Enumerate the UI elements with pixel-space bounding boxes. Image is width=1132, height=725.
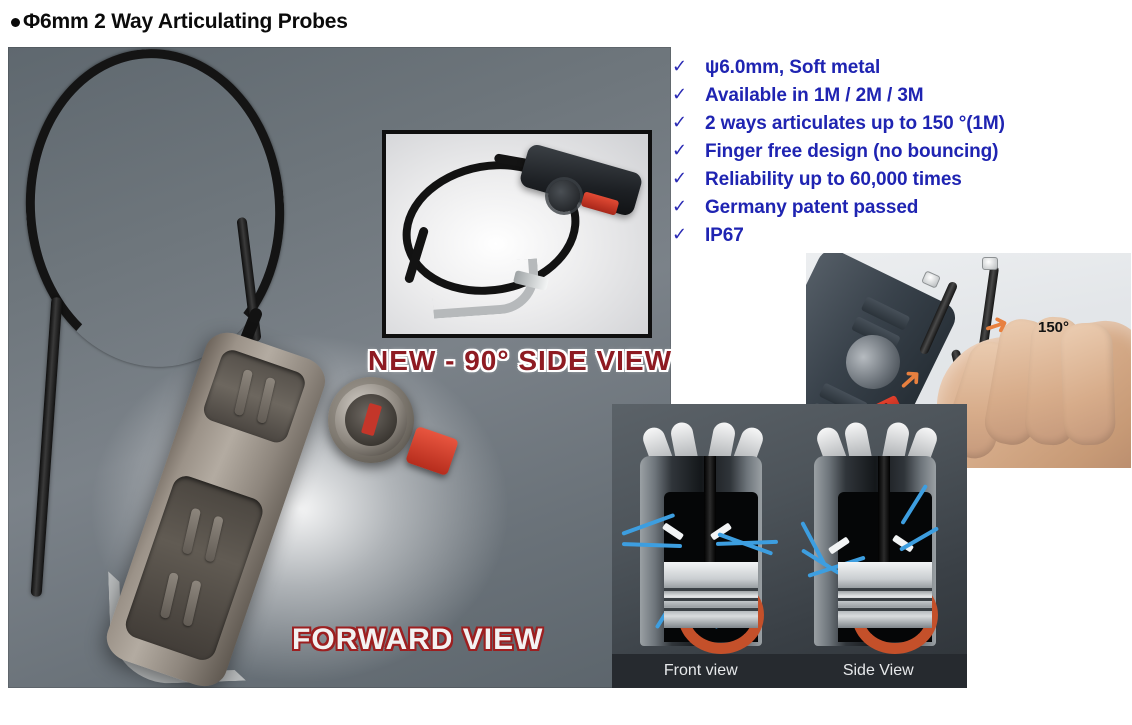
diagram-caption-side: Side View [790,654,968,688]
knob-red-marker [361,403,382,436]
feature-item: ✓ Finger free design (no bouncing) [668,138,1128,166]
main-product-photo: NEW - 90° SIDE VIEW FORWARD VIEW [8,47,671,688]
handle-ridge [160,572,179,619]
piston-ring [838,608,932,611]
cylinder-side-view [804,426,946,651]
inset-articulation-knob [548,180,580,212]
feature-list: ✓ ψ6.0mm, Soft metal ✓ Available in 1M /… [668,54,1128,250]
feature-label: ψ6.0mm, Soft metal [705,54,880,81]
check-icon: ✓ [668,82,705,108]
page-title: Φ6mm 2 Way Articulating Probes [23,10,348,34]
piston-ring [664,588,758,591]
piston-ring [664,598,758,601]
piston-ring [664,608,758,611]
finger [1060,322,1116,446]
piston-ring [838,588,932,591]
cylinder-wall [814,456,936,646]
diagram-caption-front: Front view [612,654,790,688]
feature-item: ✓ ψ6.0mm, Soft metal [668,54,1128,82]
feature-label: Finger free design (no bouncing) [705,138,998,165]
feature-item: ✓ IP67 [668,222,1128,250]
feature-item: ✓ Reliability up to 60,000 times [668,166,1128,194]
light-beam [622,542,682,548]
handle-ridge [257,377,276,424]
feature-item: ✓ Germany patent passed [668,194,1128,222]
technical-diagram-panel: Front view Side View [612,404,967,688]
feature-label: 2 ways articulates up to 150 °(1M) [705,110,1005,137]
probe-tip-right-icon [982,257,998,270]
caption-new-side-view: NEW - 90° SIDE VIEW [368,345,671,377]
handle-ridge [234,369,253,416]
check-icon: ✓ [668,222,705,248]
caption-forward-view: FORWARD VIEW [292,623,543,657]
handle-grip-slot [201,347,308,446]
check-icon: ✓ [668,194,705,220]
knob-inner-ring [345,394,397,446]
check-icon: ✓ [668,138,705,164]
feature-label: IP67 [705,222,744,249]
handle-ridge [205,516,224,563]
feature-label: Reliability up to 60,000 times [705,166,962,193]
inset-side-view-photo [382,130,652,338]
piston [664,562,758,628]
piston-ring [838,598,932,601]
cylinder-wall [640,456,762,646]
handle-ridge [183,580,202,627]
check-icon: ✓ [668,166,705,192]
angle-label-top: 150° [1038,319,1069,336]
diagram-caption-bar: Front view Side View [612,654,967,688]
probe-cable-descending [31,297,63,597]
handle-lower-panel [122,472,266,663]
piston [838,562,932,628]
handle-red-button [405,426,459,476]
feature-label: Available in 1M / 2M / 3M [705,82,924,109]
check-icon: ✓ [668,54,705,80]
check-icon: ✓ [668,110,705,136]
probe-tip-left-icon [921,270,941,288]
inset-probe-tip [430,258,540,318]
slide-title-bar: Φ6mm 2 Way Articulating Probes [0,0,1132,44]
title-bullet-icon [11,18,20,27]
feature-item: ✓ Available in 1M / 2M / 3M [668,82,1128,110]
feature-label: Germany patent passed [705,194,918,221]
feature-item: ✓ 2 ways articulates up to 150 °(1M) [668,110,1128,138]
articulation-knob [328,377,414,463]
handle-ridge [182,508,201,555]
cylinder-front-view [630,426,772,651]
